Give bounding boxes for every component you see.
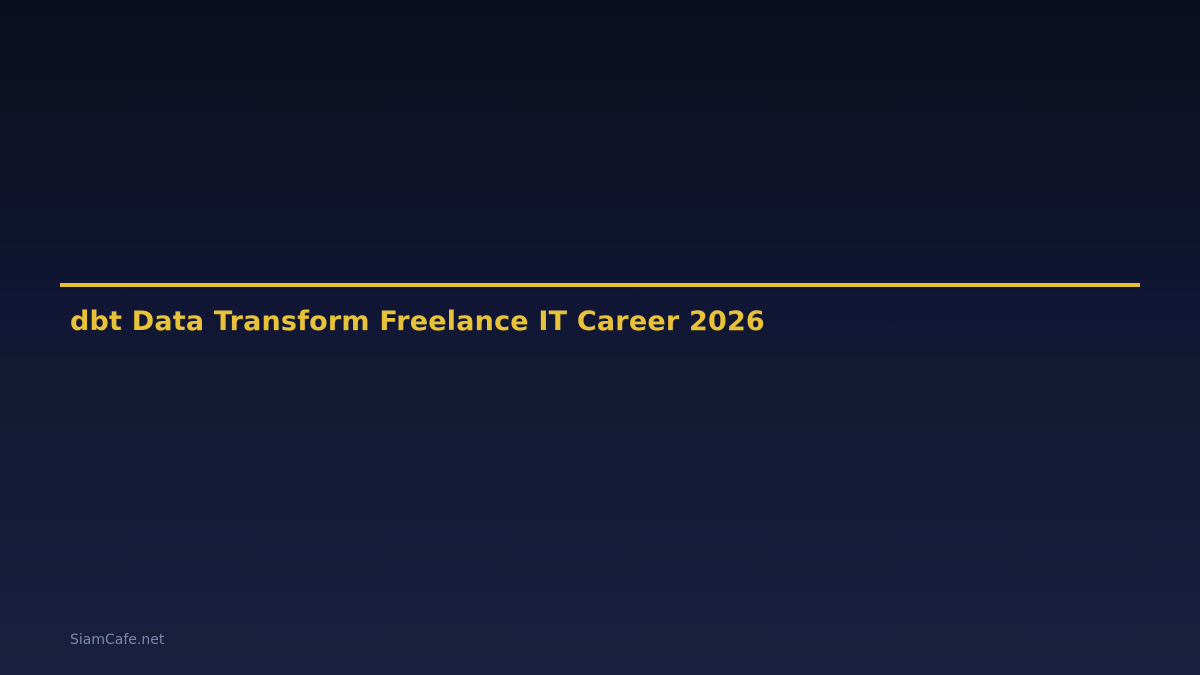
footer-brand: SiamCafe.net [70,630,164,650]
title-block: dbt Data Transform Freelance IT Career 2… [60,283,1140,287]
page-title: dbt Data Transform Freelance IT Career 2… [70,305,765,339]
accent-rule [60,283,1140,287]
slide-canvas: dbt Data Transform Freelance IT Career 2… [0,0,1200,675]
